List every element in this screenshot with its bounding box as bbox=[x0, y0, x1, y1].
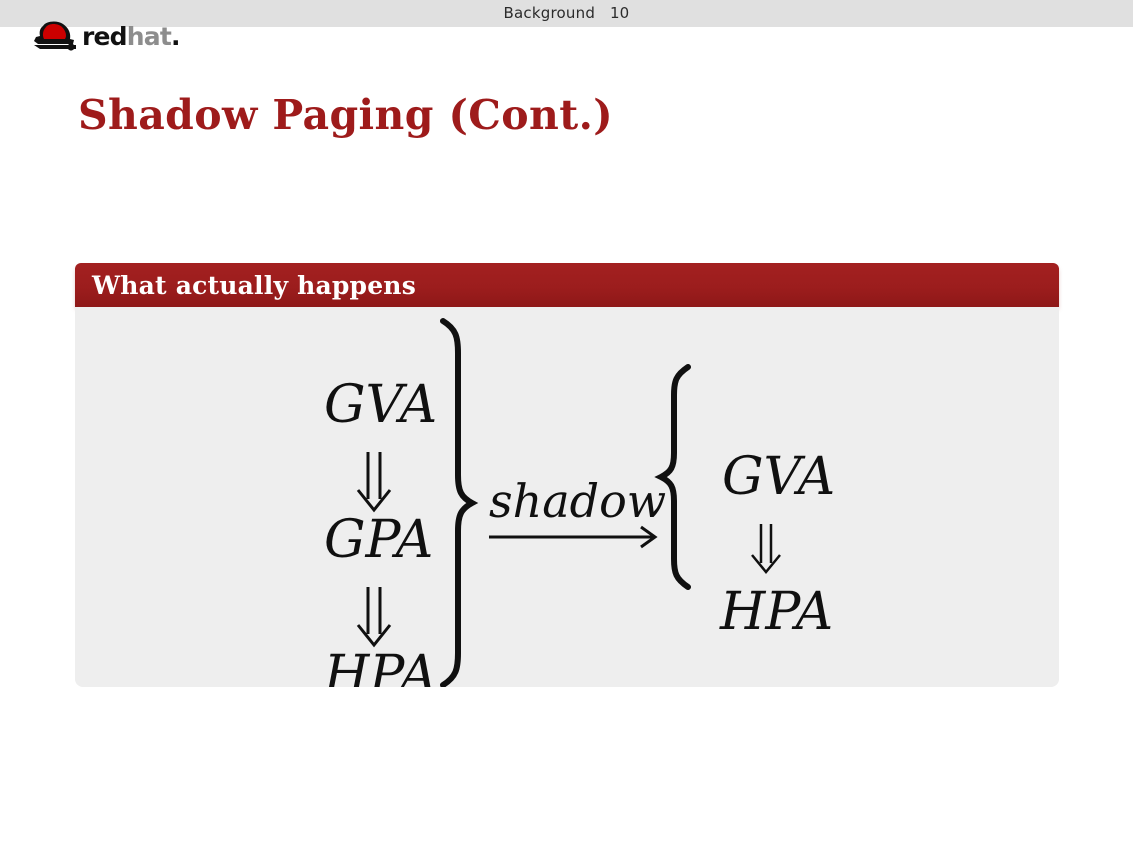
left-group-brace bbox=[443, 321, 472, 685]
logo-word-red: red bbox=[82, 22, 127, 51]
right-group-brace bbox=[661, 367, 688, 587]
block-header-title: What actually happens bbox=[92, 271, 416, 300]
redhat-wordmark: redhat. bbox=[82, 24, 180, 49]
redhat-shadowman-icon bbox=[30, 20, 80, 52]
logo-word-dot: . bbox=[171, 22, 180, 51]
relation-label: shadow bbox=[489, 474, 666, 528]
relation-arrow-icon bbox=[489, 527, 655, 547]
left-item-hpa: HPA bbox=[323, 645, 437, 687]
left-arrow-2-icon bbox=[358, 587, 390, 645]
content-block: What actually happens GVA GPA HPA bbox=[75, 263, 1059, 687]
right-item-gva: GVA bbox=[722, 447, 835, 507]
right-item-hpa: HPA bbox=[719, 582, 833, 642]
logo-word-hat: hat bbox=[127, 22, 171, 51]
page-title: Shadow Paging (Cont.) bbox=[78, 91, 613, 139]
left-item-gva: GVA bbox=[324, 375, 437, 435]
block-header: What actually happens bbox=[75, 263, 1059, 307]
block-body: GVA GPA HPA shadow bbox=[75, 307, 1059, 687]
right-arrow-1-icon bbox=[752, 524, 780, 572]
left-item-gpa: GPA bbox=[324, 510, 433, 570]
redhat-logo: redhat. bbox=[30, 20, 190, 54]
left-arrow-1-icon bbox=[358, 452, 390, 510]
shadow-paging-diagram: GVA GPA HPA shadow bbox=[75, 307, 1059, 687]
